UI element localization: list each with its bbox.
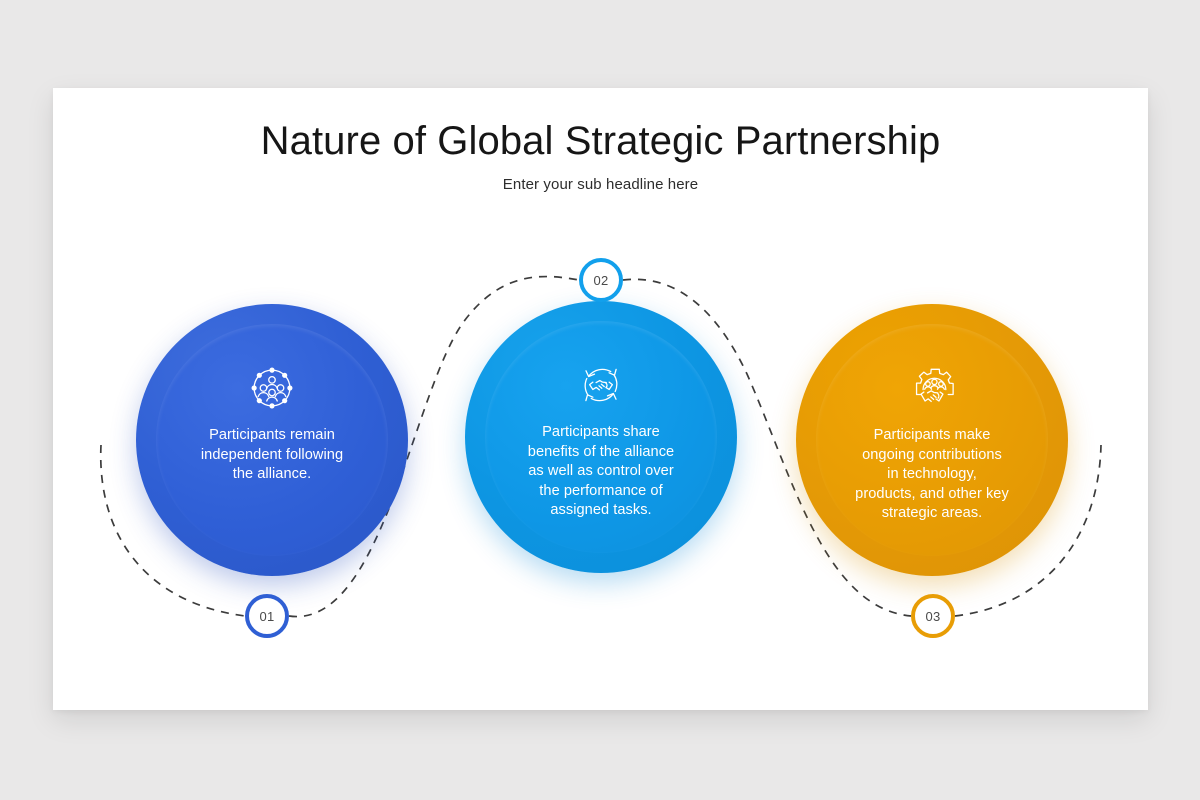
node-text-line: Participants make (874, 427, 991, 443)
node-text-line: in technology, (887, 466, 977, 482)
node-text-1: Participants remain independent followin… (174, 426, 370, 485)
step-badge-02[interactable]: 02 (579, 258, 623, 302)
node-inner-disc-3: Participants make ongoing contributions … (816, 324, 1048, 556)
node-text-line: Participants share (542, 424, 660, 440)
step-badge-label: 03 (925, 610, 940, 623)
node-text-line: ongoing contributions (862, 447, 1002, 463)
node-text-2: Participants share benefits of the allia… (503, 423, 699, 521)
node-card-1[interactable]: Participants remain independent followin… (136, 304, 408, 576)
handshake-cycle-icon (575, 359, 627, 411)
slide-root: Nature of Global Strategic Partnership E… (0, 0, 1200, 800)
gear-people-handshake-icon (906, 362, 958, 414)
node-inner-disc-2: Participants share benefits of the allia… (485, 321, 717, 553)
people-network-icon (246, 362, 298, 414)
nodes-layer: Participants remain independent followin… (53, 88, 1148, 710)
node-text-line: benefits of the alliance (528, 444, 674, 460)
node-outer-ring-2: Participants share benefits of the allia… (465, 301, 737, 573)
node-card-2[interactable]: Participants share benefits of the allia… (465, 301, 737, 573)
node-text-line: the performance of (539, 483, 662, 499)
node-text-line: strategic areas. (882, 505, 983, 521)
node-text-line: Participants remain (209, 427, 335, 443)
node-text-line: independent following (201, 447, 343, 463)
node-text-line: assigned tasks. (550, 502, 651, 518)
node-card-3[interactable]: Participants make ongoing contributions … (796, 304, 1068, 576)
slide-card: Nature of Global Strategic Partnership E… (53, 88, 1148, 710)
node-text-3: Participants make ongoing contributions … (834, 426, 1030, 524)
node-text-line: as well as control over (528, 463, 674, 479)
node-text-line: products, and other key (855, 486, 1009, 502)
step-badge-01[interactable]: 01 (245, 594, 289, 638)
node-outer-ring-1: Participants remain independent followin… (136, 304, 408, 576)
step-badge-03[interactable]: 03 (911, 594, 955, 638)
node-inner-disc-1: Participants remain independent followin… (156, 324, 388, 556)
node-text-line: the alliance. (233, 466, 312, 482)
node-outer-ring-3: Participants make ongoing contributions … (796, 304, 1068, 576)
step-badge-label: 02 (593, 274, 608, 287)
step-badge-label: 01 (259, 610, 274, 623)
